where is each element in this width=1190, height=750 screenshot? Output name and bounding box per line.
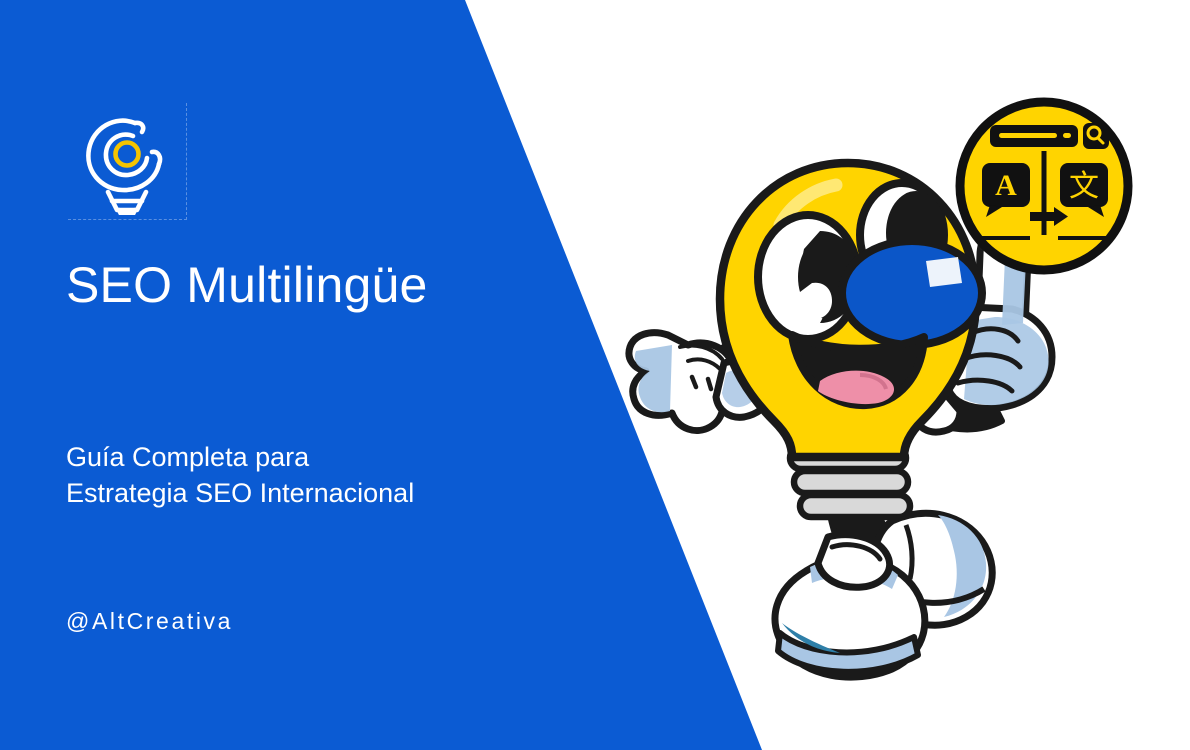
mascot-illustration: A 文 — [540, 85, 1160, 695]
search-bar-icon — [990, 123, 1109, 149]
subtitle-line-1: Guía Completa para — [66, 440, 414, 476]
page-subtitle: Guía Completa para Estrategia SEO Intern… — [66, 440, 414, 511]
subtitle-line-2: Estrategia SEO Internacional — [66, 476, 414, 512]
mascot-blue-eye-patch — [842, 241, 982, 345]
source-language-glyph: A — [995, 169, 1017, 202]
target-language-glyph: 文 — [1069, 169, 1099, 204]
brand-handle: @AltCreativa — [66, 608, 233, 635]
brand-logo[interactable] — [68, 103, 188, 221]
poster-canvas: SEO Multilingüe Guía Completa para Estra… — [0, 0, 1190, 750]
page-title: SEO Multilingüe — [66, 258, 428, 313]
logo-core-circle — [116, 143, 139, 166]
translation-search-badge[interactable]: A 文 — [960, 102, 1128, 270]
lightbulb-logo-icon — [75, 109, 179, 215]
eye-patch-glint — [926, 257, 962, 287]
